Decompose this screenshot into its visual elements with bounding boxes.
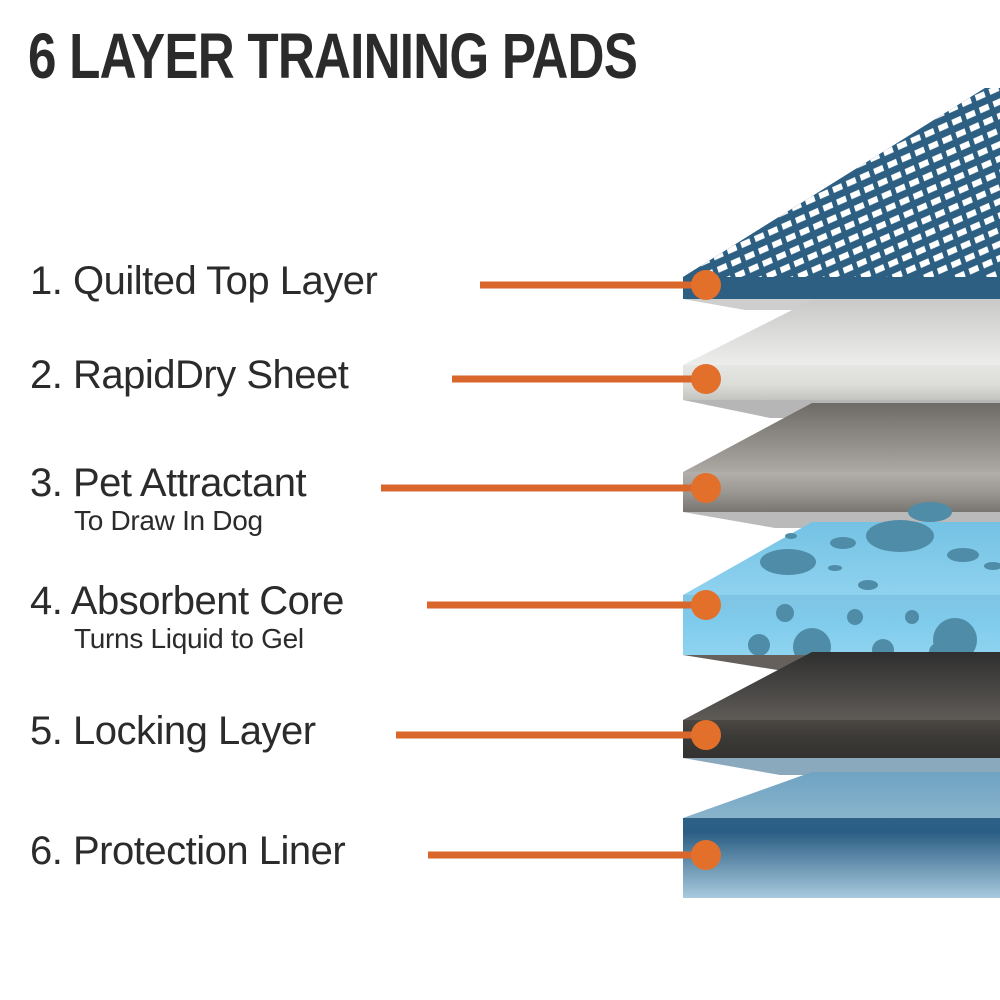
layer-1-quilt-texture [683, 88, 1000, 277]
layer-slab-2-rapiddry-sheet [683, 300, 1000, 418]
leader-lines-group [381, 285, 706, 855]
layer-slab-4-absorbent-core [683, 502, 1000, 672]
callout-dot-6 [691, 840, 721, 870]
layer-label-3-subtext: To Draw In Dog [74, 505, 306, 537]
layer-2-front-face [683, 365, 1000, 400]
layer-slab-6-protection-liner [683, 772, 1000, 898]
layer-label-6: 6. Protection Liner [30, 830, 345, 872]
layer-slab-3-pet-attractant [683, 403, 1000, 528]
layer-label-3-text: 3. Pet Attractant [30, 462, 306, 504]
layer-3-top-face [683, 403, 1000, 472]
callout-dot-4 [691, 590, 721, 620]
layer-label-1-text: 1. Quilted Top Layer [30, 260, 377, 302]
layer-2-top-face [683, 300, 1000, 365]
layer-label-4: 4. Absorbent Core Turns Liquid to Gel [30, 580, 344, 655]
layer-1-front-face [683, 277, 1000, 299]
layer-label-5-text: 5. Locking Layer [30, 710, 316, 752]
layer-3-front-face [683, 472, 1000, 512]
layer-label-2: 2. RapidDry Sheet [30, 354, 348, 396]
layer-label-5: 5. Locking Layer [30, 710, 316, 752]
layer-5-front-face [683, 720, 1000, 758]
callout-dot-5 [691, 720, 721, 750]
layer-label-1: 1. Quilted Top Layer [30, 260, 377, 302]
callout-dot-2 [691, 364, 721, 394]
layer-6-front-face [683, 818, 1000, 898]
layer-6-top-face [683, 772, 1000, 818]
layer-slab-1-quilted-top-layer [683, 88, 1000, 310]
callout-dot-1 [691, 270, 721, 300]
layer-diagram-infographic: 6 LAYER TRAINING PADS [0, 0, 1000, 1000]
layer-label-4-subtext: Turns Liquid to Gel [74, 623, 344, 655]
layer-label-2-text: 2. RapidDry Sheet [30, 354, 348, 396]
layer-label-4-text: 4. Absorbent Core [30, 580, 344, 622]
callout-dot-3 [691, 473, 721, 503]
layer-slab-5-locking-layer [683, 652, 1000, 775]
layer-label-3: 3. Pet Attractant To Draw In Dog [30, 462, 306, 537]
layer-label-6-text: 6. Protection Liner [30, 830, 345, 872]
